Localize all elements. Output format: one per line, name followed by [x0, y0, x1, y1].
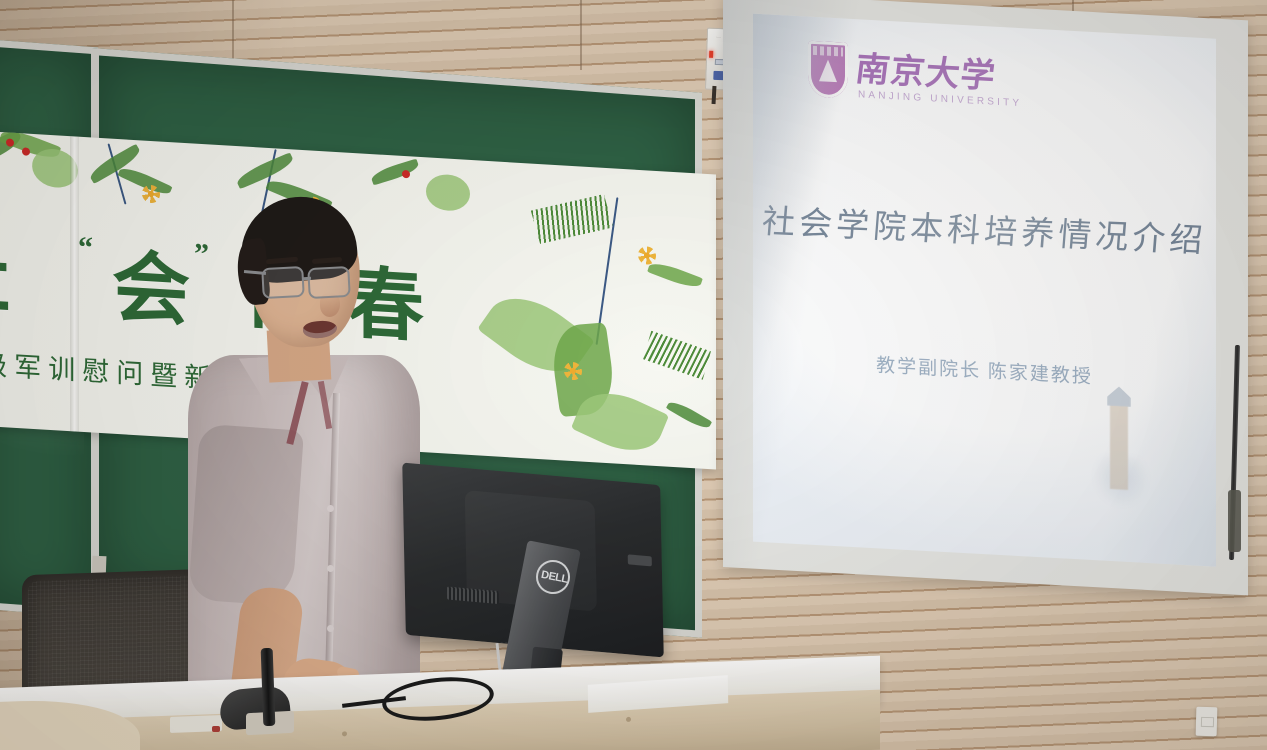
fern-icon: [643, 331, 711, 380]
screen-pull-grip[interactable]: [1228, 490, 1241, 552]
glasses-lens-left: [261, 266, 305, 299]
leaf-icon: [647, 259, 703, 292]
logo-chinese-name: 南京大学: [853, 41, 999, 97]
leaf-icon: [426, 173, 470, 212]
fern-icon: [531, 194, 613, 244]
slide-light-falloff: [753, 14, 1216, 567]
shield-crest-icon: [808, 41, 848, 99]
berry-icon: [6, 138, 14, 146]
speaker: [170, 205, 430, 750]
slide-title: 社会学院本科培养情况介绍: [753, 194, 1216, 262]
tower-watermark-icon: [1098, 377, 1142, 509]
classroom-photo-scene: 社 “ 会 ” 青 春 3 级军训慰问暨新生 活动 - ····· 南京大学 N…: [0, 0, 1267, 750]
presentation-slide: 南京大学 NANJING UNIVERSITY 社会学院本科培养情况介绍 教学副…: [753, 14, 1216, 567]
leaf-icon: [666, 398, 712, 432]
monitor-port: [628, 554, 652, 566]
shirt-button: [327, 625, 334, 632]
berry-icon: [22, 147, 30, 155]
speaker-sleeve: [188, 424, 304, 607]
watermark-tower-roof: [1107, 386, 1131, 407]
shirt-button: [327, 505, 334, 512]
leaf-icon: [369, 159, 420, 186]
watermark-haze: [1092, 455, 1150, 510]
berry-icon: [402, 170, 410, 178]
nju-logo: 南京大学 NANJING UNIVERSITY: [808, 39, 998, 121]
podium-screw: [626, 717, 631, 722]
slide-subtitle: 教学副院长 陈家建教授: [753, 344, 1216, 396]
podium-screw: [342, 731, 347, 736]
flower-icon: [142, 184, 160, 203]
banner-title-char-1: 社: [0, 236, 10, 319]
logo-english-name: NANJING UNIVERSITY: [858, 89, 1022, 109]
flower-icon: [638, 246, 656, 265]
glasses-bridge: [303, 277, 311, 280]
crown-icon: [813, 46, 843, 57]
watermark-tower-body: [1110, 404, 1128, 490]
banner-quote-open: “: [78, 233, 93, 264]
shirt-button: [327, 565, 334, 572]
wall-outlet[interactable]: [1196, 707, 1218, 737]
status-led-icon: [709, 51, 713, 58]
desk-item-marker: [212, 726, 220, 732]
projection-screen: 南京大学 NANJING UNIVERSITY 社会学院本科培养情况介绍 教学副…: [723, 0, 1248, 595]
